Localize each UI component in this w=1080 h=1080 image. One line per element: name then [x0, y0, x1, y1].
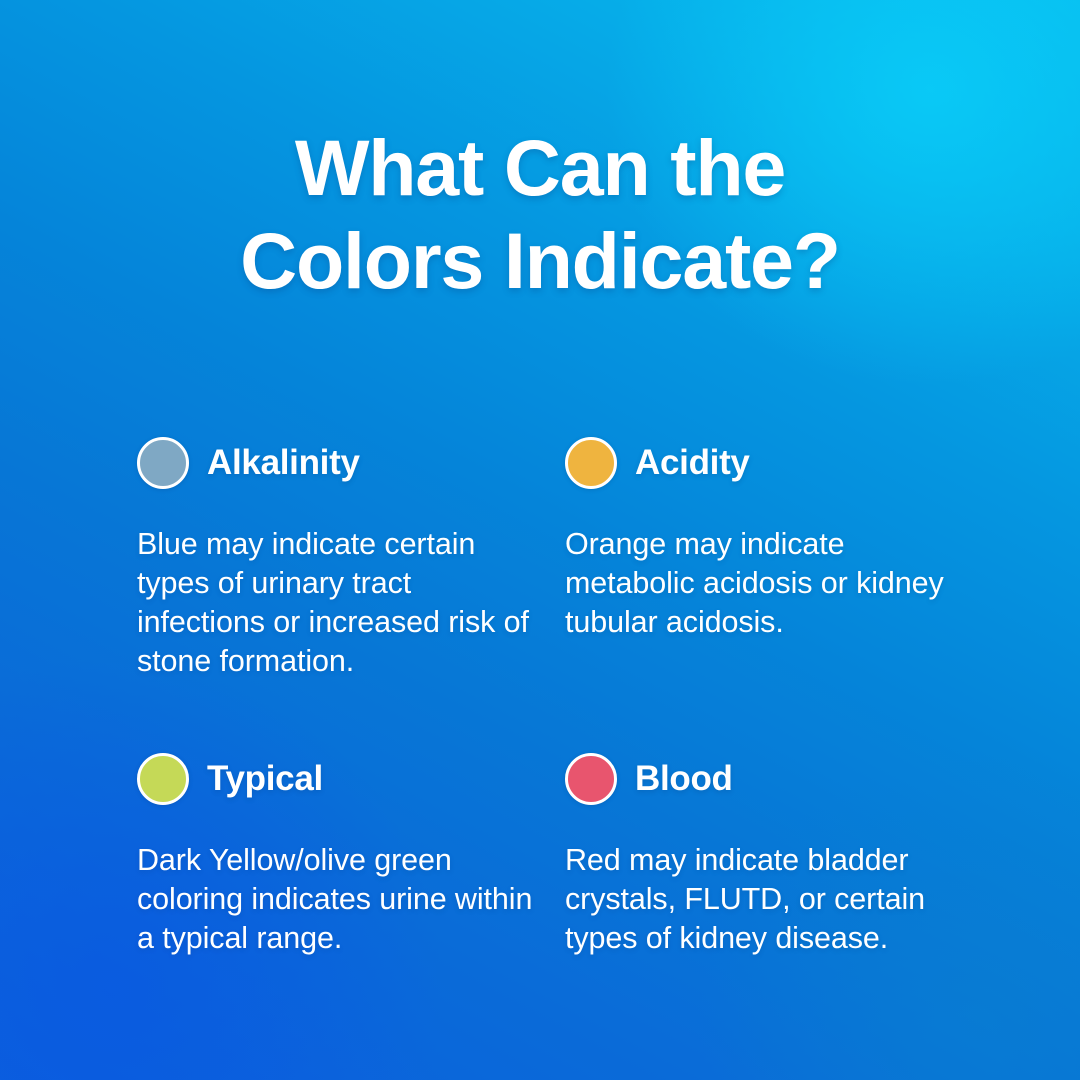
color-swatch-orange-icon	[565, 437, 617, 489]
color-swatch-blue-icon	[137, 437, 189, 489]
legend-item-blood: Blood Red may indicate bladder crystals,…	[565, 748, 967, 988]
legend-row-bottom: Typical Dark Yellow/olive green coloring…	[137, 748, 967, 988]
legend-item-title: Acidity	[635, 443, 750, 483]
legend-item-header: Typical	[137, 748, 545, 810]
legend-item-description: Dark Yellow/olive green coloring indicat…	[137, 841, 545, 958]
legend-item-alkalinity: Alkalinity Blue may indicate certain typ…	[137, 432, 565, 711]
legend-item-description: Red may indicate bladder crystals, FLUTD…	[565, 841, 967, 958]
legend-item-title: Alkalinity	[207, 443, 360, 483]
legend-item-typical: Typical Dark Yellow/olive green coloring…	[137, 748, 565, 988]
legend-item-acidity: Acidity Orange may indicate metabolic ac…	[565, 432, 967, 672]
legend-item-title: Typical	[207, 759, 323, 799]
legend-item-header: Acidity	[565, 432, 967, 494]
legend-item-description: Orange may indicate metabolic acidosis o…	[565, 525, 967, 642]
legend-item-header: Blood	[565, 748, 967, 810]
page-title: What Can the Colors Indicate?	[0, 121, 1080, 307]
color-legend-grid: Alkalinity Blue may indicate certain typ…	[137, 432, 967, 988]
color-swatch-olive-green-icon	[137, 753, 189, 805]
legend-item-description: Blue may indicate certain types of urina…	[137, 525, 545, 681]
color-swatch-red-icon	[565, 753, 617, 805]
legend-row-top: Alkalinity Blue may indicate certain typ…	[137, 432, 967, 711]
infographic-card: What Can the Colors Indicate? Alkalinity…	[0, 0, 1080, 1080]
legend-item-title: Blood	[635, 759, 733, 799]
legend-item-header: Alkalinity	[137, 432, 545, 494]
